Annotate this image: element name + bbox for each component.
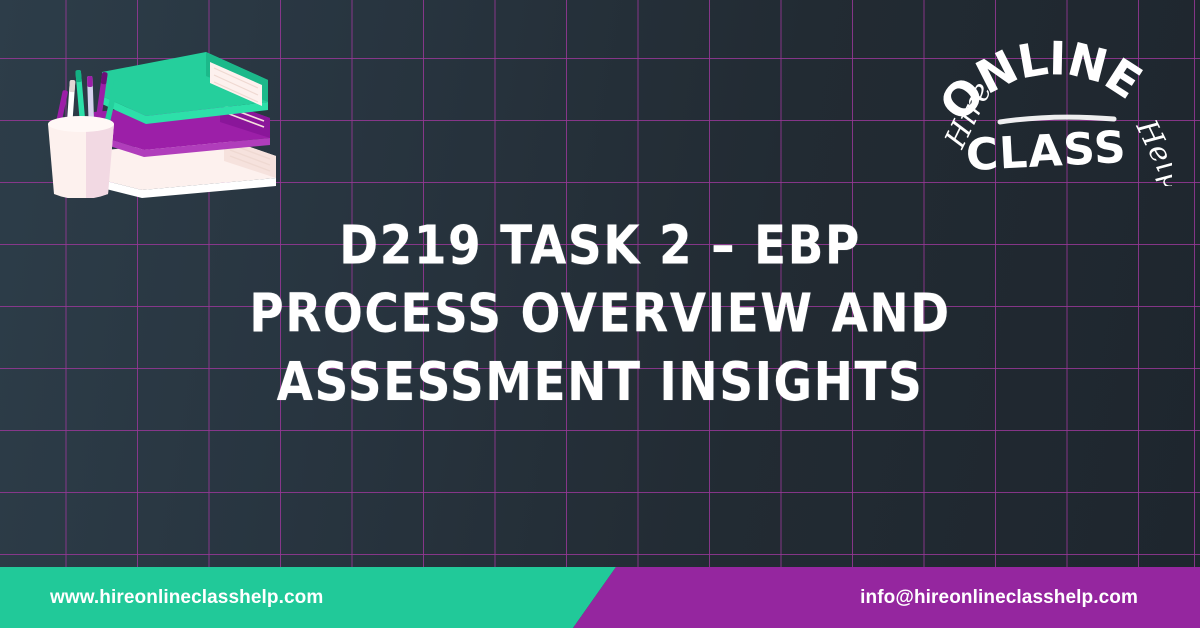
- poster-canvas: Hire ONLINE CLASS Help D219 TASK 2 – EBP…: [0, 0, 1200, 628]
- title-line-3: ASSESSMENT INSIGHTS: [0, 349, 1200, 417]
- title-line-1: D219 TASK 2 – EBP: [0, 212, 1200, 280]
- stacked-books-illustration: [24, 28, 294, 198]
- footer-email-link[interactable]: info@hireonlineclasshelp.com: [860, 567, 1138, 628]
- page-title: D219 TASK 2 – EBP PROCESS OVERVIEW AND A…: [0, 212, 1200, 417]
- logo-underline: [1000, 117, 1114, 122]
- footer-website-link[interactable]: www.hireonlineclasshelp.com: [50, 567, 323, 628]
- logo-script-help: Help: [1129, 113, 1172, 186]
- brand-logo[interactable]: Hire ONLINE CLASS Help: [922, 18, 1172, 186]
- logo-word-class: CLASS: [965, 122, 1128, 181]
- title-line-2: PROCESS OVERVIEW AND: [0, 280, 1200, 348]
- footer-bar: www.hireonlineclasshelp.com info@hireonl…: [0, 567, 1200, 628]
